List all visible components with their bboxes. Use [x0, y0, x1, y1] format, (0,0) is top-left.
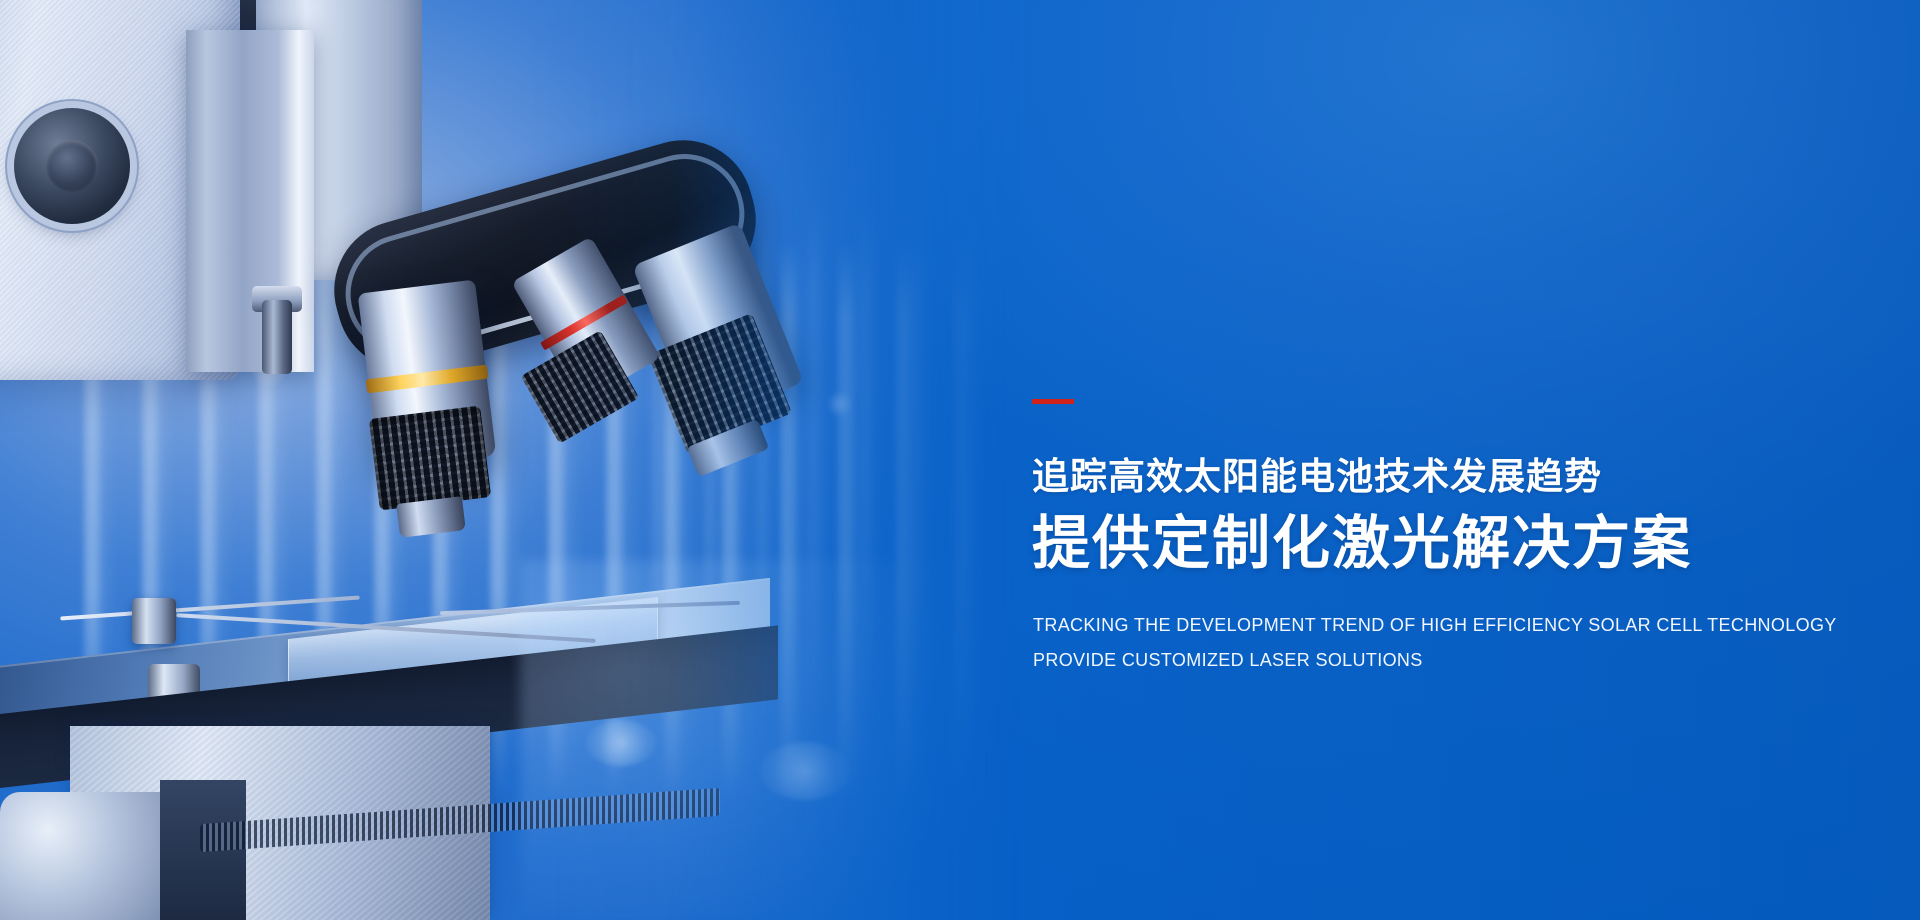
microscope-screw: [262, 300, 292, 374]
microscope-focus-knob: [14, 108, 130, 224]
hero-subtitle-en-line2: PROVIDE CUSTOMIZED LASER SOLUTIONS: [1033, 650, 1423, 671]
microscope-base-foot: [0, 792, 160, 920]
stage-clip-post: [132, 598, 176, 644]
photo-glare: [520, 560, 1020, 920]
accent-bar: [1032, 399, 1074, 404]
hero-banner: 追踪高效太阳能电池技术发展趋势 提供定制化激光解决方案 TRACKING THE…: [0, 0, 1920, 920]
objective-lens-front-grip: [369, 406, 491, 511]
bokeh-dot: [828, 392, 852, 416]
hero-subtitle-en-line1: TRACKING THE DEVELOPMENT TREND OF HIGH E…: [1033, 615, 1837, 636]
hero-subtitle-cn: 追踪高效太阳能电池技术发展趋势: [1032, 456, 1602, 499]
microscope-pillar: [186, 30, 314, 372]
microscope-photo: [0, 0, 1020, 920]
hero-text-block: 追踪高效太阳能电池技术发展趋势 提供定制化激光解决方案 TRACKING THE…: [1032, 0, 1892, 920]
hero-headline-cn: 提供定制化激光解决方案: [1032, 509, 1692, 579]
